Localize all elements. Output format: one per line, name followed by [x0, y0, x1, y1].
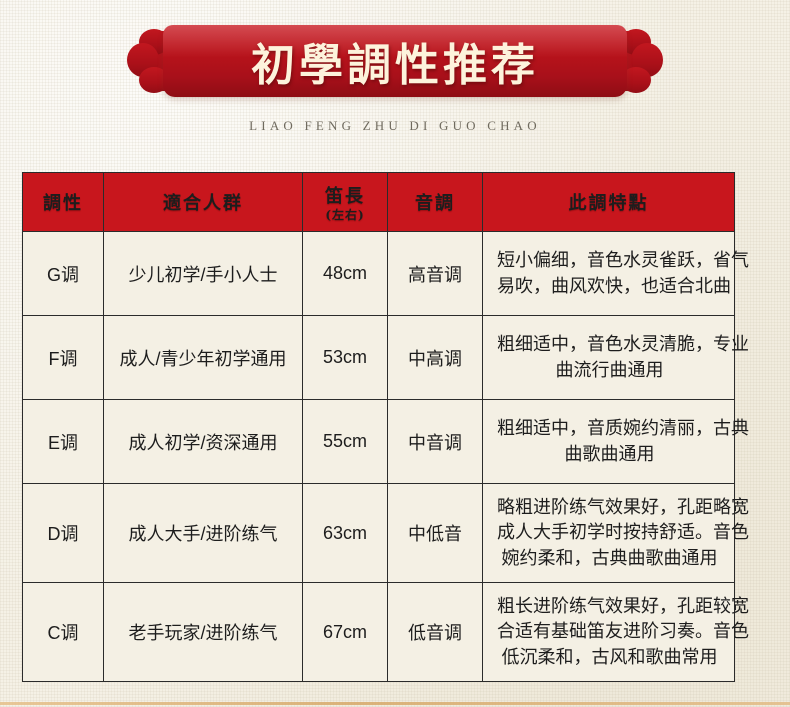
column-header-characteristics: 此調特點: [483, 173, 735, 232]
desc-line: 低沉柔和，古风和歌曲常用: [497, 645, 722, 671]
table-header: 調性 適合人群 笛長 (左右) 音調 此調特點: [23, 173, 735, 232]
cell-flute-length: 53cm: [303, 316, 388, 400]
column-header-pitch: 音調: [388, 173, 483, 232]
desc-line: 成人大手初学时按持舒适。音色: [497, 520, 722, 546]
desc-line: 易吹，曲风欢快，也适合北曲: [497, 274, 722, 300]
desc-line: 粗长进阶练气效果好，孔距较宽: [497, 594, 722, 620]
page-subtitle: LIAO FENG ZHU DI GUO CHAO: [0, 118, 790, 134]
table-row: E调 成人初学/资深通用 55cm 中音调 粗细适中，音质婉约清丽，古典 曲歌曲…: [23, 400, 735, 484]
key-recommendation-table-wrapper: 調性 適合人群 笛長 (左右) 音調 此調特點: [22, 172, 735, 682]
cell-key: C调: [23, 583, 104, 682]
table-row: C调 老手玩家/进阶练气 67cm 低音调 粗长进阶练气效果好，孔距较宽 合适有…: [23, 583, 735, 682]
column-header-flute-length: 笛長 (左右): [303, 173, 388, 232]
page-root: 初學調性推荐 LIAO FENG ZHU DI GUO CHAO 調性 適合人群…: [0, 0, 790, 707]
column-header-key-label: 調性: [43, 193, 83, 214]
cell-flute-length: 55cm: [303, 400, 388, 484]
cell-audience: 少儿初学/手小人士: [104, 232, 303, 316]
column-header-audience: 適合人群: [104, 173, 303, 232]
cell-key: F调: [23, 316, 104, 400]
cell-characteristics: 粗细适中，音色水灵清脆，专业 曲流行曲通用: [483, 316, 735, 400]
cell-pitch: 低音调: [388, 583, 483, 682]
bottom-divider: [0, 702, 790, 705]
title-banner: 初學調性推荐: [0, 22, 790, 100]
key-recommendation-table: 調性 適合人群 笛長 (左右) 音調 此調特點: [22, 172, 735, 682]
cell-key: E调: [23, 400, 104, 484]
cell-audience: 成人/青少年初学通用: [104, 316, 303, 400]
cell-characteristics: 短小偏细，音色水灵雀跃，省气 易吹，曲风欢快，也适合北曲: [483, 232, 735, 316]
column-header-audience-label: 適合人群: [163, 193, 243, 214]
cell-flute-length: 48cm: [303, 232, 388, 316]
cell-pitch: 中高调: [388, 316, 483, 400]
cell-characteristics: 粗长进阶练气效果好，孔距较宽 合适有基础笛友进阶习奏。音色 低沉柔和，古风和歌曲…: [483, 583, 735, 682]
cell-pitch: 中低音: [388, 484, 483, 583]
table-row: G调 少儿初学/手小人士 48cm 高音调 短小偏细，音色水灵雀跃，省气 易吹，…: [23, 232, 735, 316]
table-header-row: 調性 適合人群 笛長 (左右) 音調 此調特點: [23, 173, 735, 232]
table-row: F调 成人/青少年初学通用 53cm 中高调 粗细适中，音色水灵清脆，专业 曲流…: [23, 316, 735, 400]
cell-pitch: 中音调: [388, 400, 483, 484]
table-body: G调 少儿初学/手小人士 48cm 高音调 短小偏细，音色水灵雀跃，省气 易吹，…: [23, 232, 735, 682]
page-title: 初學調性推荐: [125, 25, 665, 97]
cell-characteristics: 略粗进阶练气效果好，孔距略宽 成人大手初学时按持舒适。音色 婉约柔和，古典曲歌曲…: [483, 484, 735, 583]
cell-audience: 老手玩家/进阶练气: [104, 583, 303, 682]
column-header-flute-length-sublabel: (左右): [304, 206, 386, 223]
cell-pitch: 高音调: [388, 232, 483, 316]
cell-flute-length: 67cm: [303, 583, 388, 682]
desc-line: 短小偏细，音色水灵雀跃，省气: [497, 248, 722, 274]
cell-flute-length: 63cm: [303, 484, 388, 583]
column-header-flute-length-label: 笛長: [325, 186, 365, 207]
column-header-characteristics-label: 此調特點: [569, 193, 649, 214]
cell-audience: 成人初学/资深通用: [104, 400, 303, 484]
desc-line: 曲歌曲通用: [497, 442, 722, 468]
banner-shape: 初學調性推荐: [125, 25, 665, 97]
column-header-key: 調性: [23, 173, 104, 232]
column-header-pitch-label: 音調: [415, 193, 455, 214]
table-row: D调 成人大手/进阶练气 63cm 中低音 略粗进阶练气效果好，孔距略宽 成人大…: [23, 484, 735, 583]
desc-line: 合适有基础笛友进阶习奏。音色: [497, 619, 722, 645]
desc-line: 粗细适中，音色水灵清脆，专业: [497, 332, 722, 358]
desc-line: 婉约柔和，古典曲歌曲通用: [497, 546, 722, 572]
cell-characteristics: 粗细适中，音质婉约清丽，古典 曲歌曲通用: [483, 400, 735, 484]
desc-line: 粗细适中，音质婉约清丽，古典: [497, 416, 722, 442]
cell-key: G调: [23, 232, 104, 316]
desc-line: 略粗进阶练气效果好，孔距略宽: [497, 495, 722, 521]
cell-key: D调: [23, 484, 104, 583]
cell-audience: 成人大手/进阶练气: [104, 484, 303, 583]
desc-line: 曲流行曲通用: [497, 358, 722, 384]
